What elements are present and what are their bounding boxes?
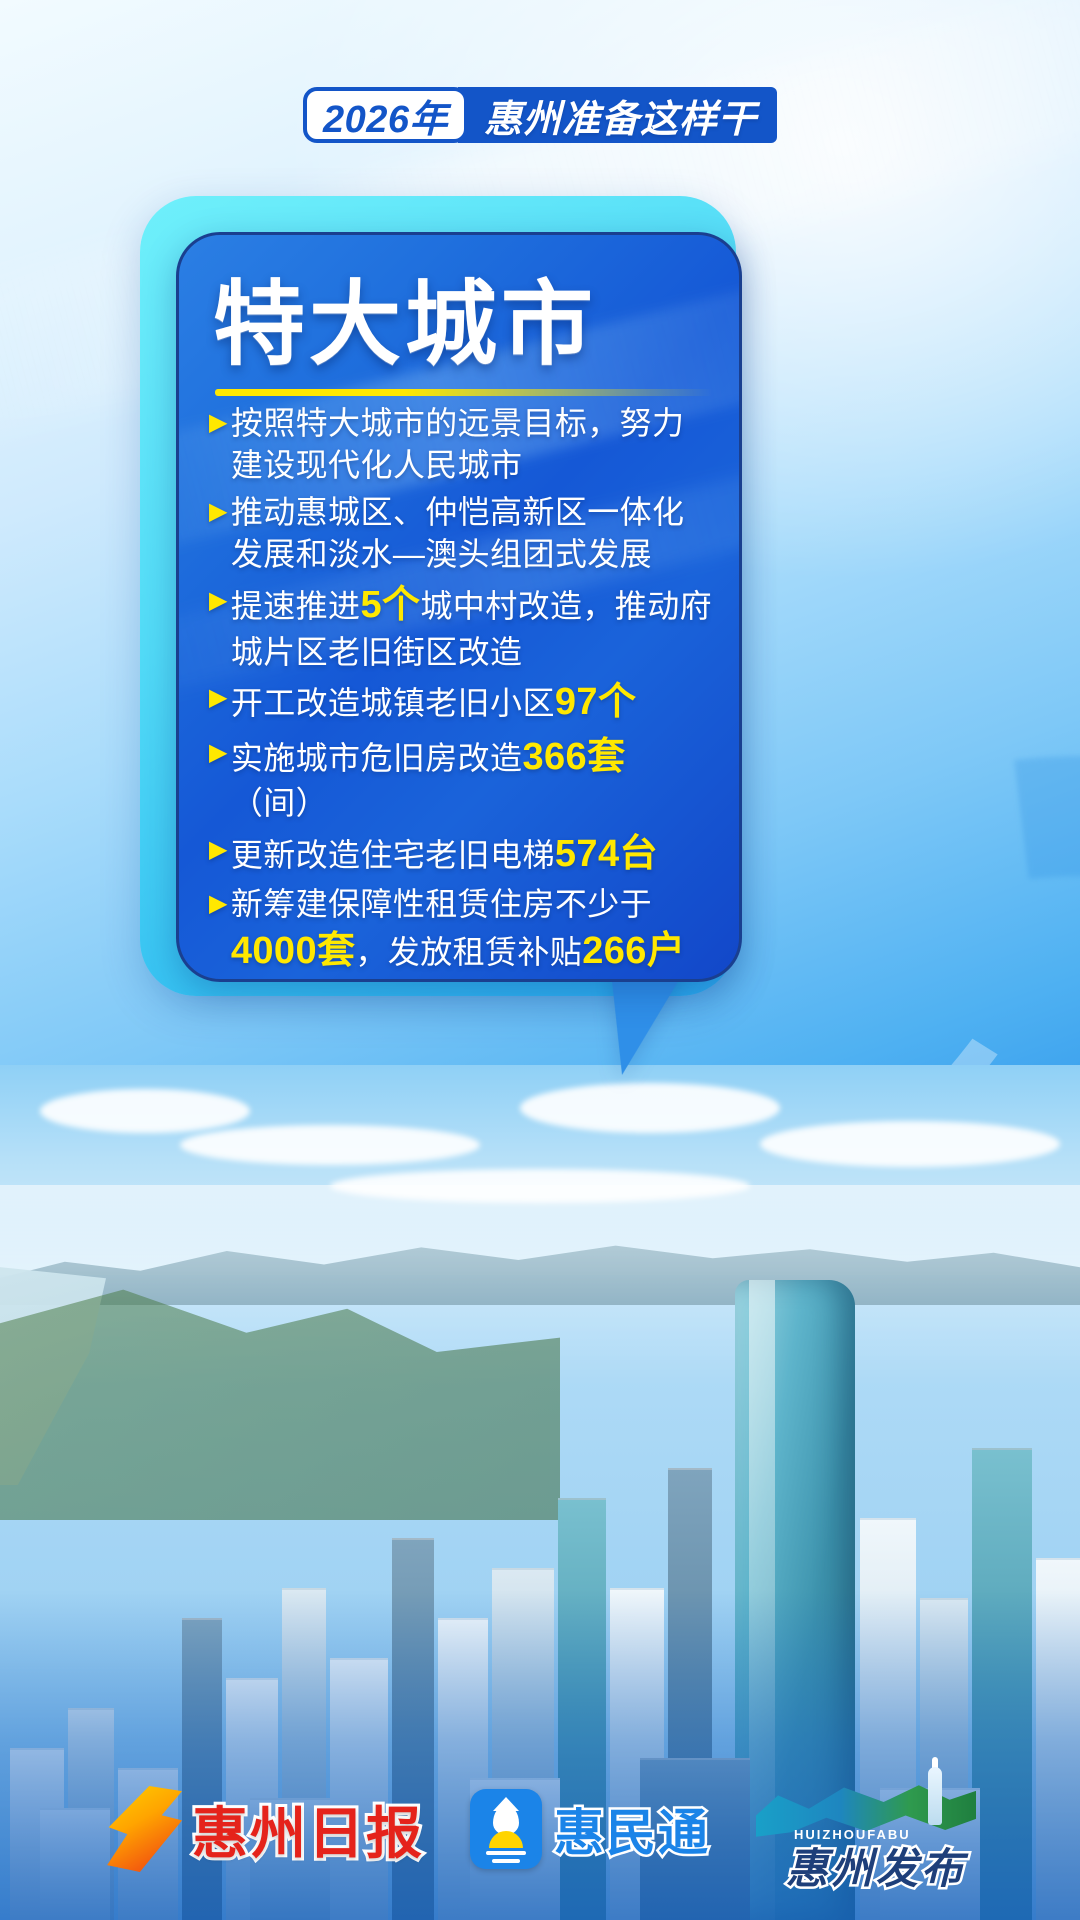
highlight-number: 97个: [555, 681, 636, 723]
logo-huizhou-daily-label: 惠州日报: [192, 1789, 424, 1870]
list-item: ▶推进水东街二期等37项重点项目建设: [209, 980, 713, 982]
highlight-number: 266户: [582, 930, 685, 972]
triangle-right-icon: ▶: [209, 580, 228, 621]
logo-huizhou-release[interactable]: HUIZHOUFABU 惠州发布: [756, 1777, 976, 1881]
huizhou-daily-swoosh-icon: [104, 1786, 182, 1872]
header-badge-group: 2026年 惠州准备这样干: [303, 87, 777, 143]
triangle-right-icon: ▶: [209, 402, 228, 443]
triangle-right-icon: ▶: [209, 829, 228, 870]
highlight-number: 4000套: [231, 930, 356, 972]
cloud: [40, 1089, 250, 1133]
list-item: ▶按照特大城市的远景目标，努力建设现代化人民城市: [209, 402, 713, 487]
page-title: 特大城市: [209, 279, 713, 373]
poster-root: 2026年 惠州准备这样干 特大城市 ▶按照特大城市的远景目标，努力建设现代化人…: [0, 0, 1080, 1920]
list-item: ▶新筹建保障性租赁住房不少于4000套，发放租赁补贴266户: [209, 883, 713, 976]
list-item-text: 更新改造住宅老旧电梯574台: [231, 829, 713, 880]
list-item-text: 提速推进5个城中村改造，推动府城片区老旧街区改造: [231, 580, 713, 673]
speech-bubble-panel: 特大城市 ▶按照特大城市的远景目标，努力建设现代化人民城市▶推动惠城区、仲恺高新…: [176, 232, 742, 982]
logo-huizhou-daily[interactable]: 惠州日报: [104, 1786, 424, 1872]
logo-huimintong[interactable]: 惠民通: [470, 1789, 710, 1869]
list-item-text: 开工改造城镇老旧小区97个: [231, 677, 713, 728]
highlight-number: 574台: [555, 833, 658, 875]
list-item: ▶推动惠城区、仲恺高新区一体化发展和淡水—澳头组团式发展: [209, 491, 713, 576]
list-item-text: 推进水东街二期等37项重点项目建设: [231, 980, 713, 982]
list-item: ▶提速推进5个城中村改造，推动府城片区老旧街区改造: [209, 580, 713, 673]
logo-huizhou-release-label: 惠州发布: [786, 1835, 966, 1896]
list-item: ▶实施城市危旧房改造366套（间）: [209, 732, 713, 825]
header-title-bar: 惠州准备这样干: [458, 87, 777, 143]
card-content: 特大城市 ▶按照特大城市的远景目标，努力建设现代化人民城市▶推动惠城区、仲恺高新…: [179, 235, 739, 982]
list-item: ▶更新改造住宅老旧电梯574台: [209, 829, 713, 880]
title-underline: [215, 389, 713, 396]
cloud: [180, 1125, 480, 1165]
huimintong-app-icon: [470, 1789, 542, 1869]
cloud: [520, 1083, 780, 1133]
triangle-right-icon: ▶: [209, 677, 228, 718]
header-year-badge: 2026年: [303, 87, 468, 143]
triangle-right-icon: ▶: [209, 883, 228, 924]
highlight-number: 366套: [522, 736, 625, 778]
list-item-text: 按照特大城市的远景目标，努力建设现代化人民城市: [231, 402, 713, 487]
triangle-right-icon: ▶: [209, 732, 228, 773]
policy-list: ▶按照特大城市的远景目标，努力建设现代化人民城市▶推动惠城区、仲恺高新区一体化发…: [209, 402, 713, 982]
spire-icon: [928, 1767, 942, 1825]
list-item: ▶开工改造城镇老旧小区97个: [209, 677, 713, 728]
list-item-text: 推动惠城区、仲恺高新区一体化发展和淡水—澳头组团式发展: [231, 491, 713, 576]
logo-huimintong-label: 惠民通: [554, 1793, 710, 1865]
triangle-right-icon: ▶: [209, 491, 228, 532]
highlight-number: 5个: [360, 584, 420, 626]
list-item-text: 实施城市危旧房改造366套（间）: [231, 732, 713, 825]
header-banner: 2026年 惠州准备这样干: [0, 84, 1080, 146]
footer-logo-row: 惠州日报 惠民通 HUIZHOUFABU 惠州发布: [0, 1774, 1080, 1884]
cloud: [760, 1121, 1060, 1167]
list-item-text: 新筹建保障性租赁住房不少于4000套，发放租赁补贴266户: [231, 883, 713, 976]
